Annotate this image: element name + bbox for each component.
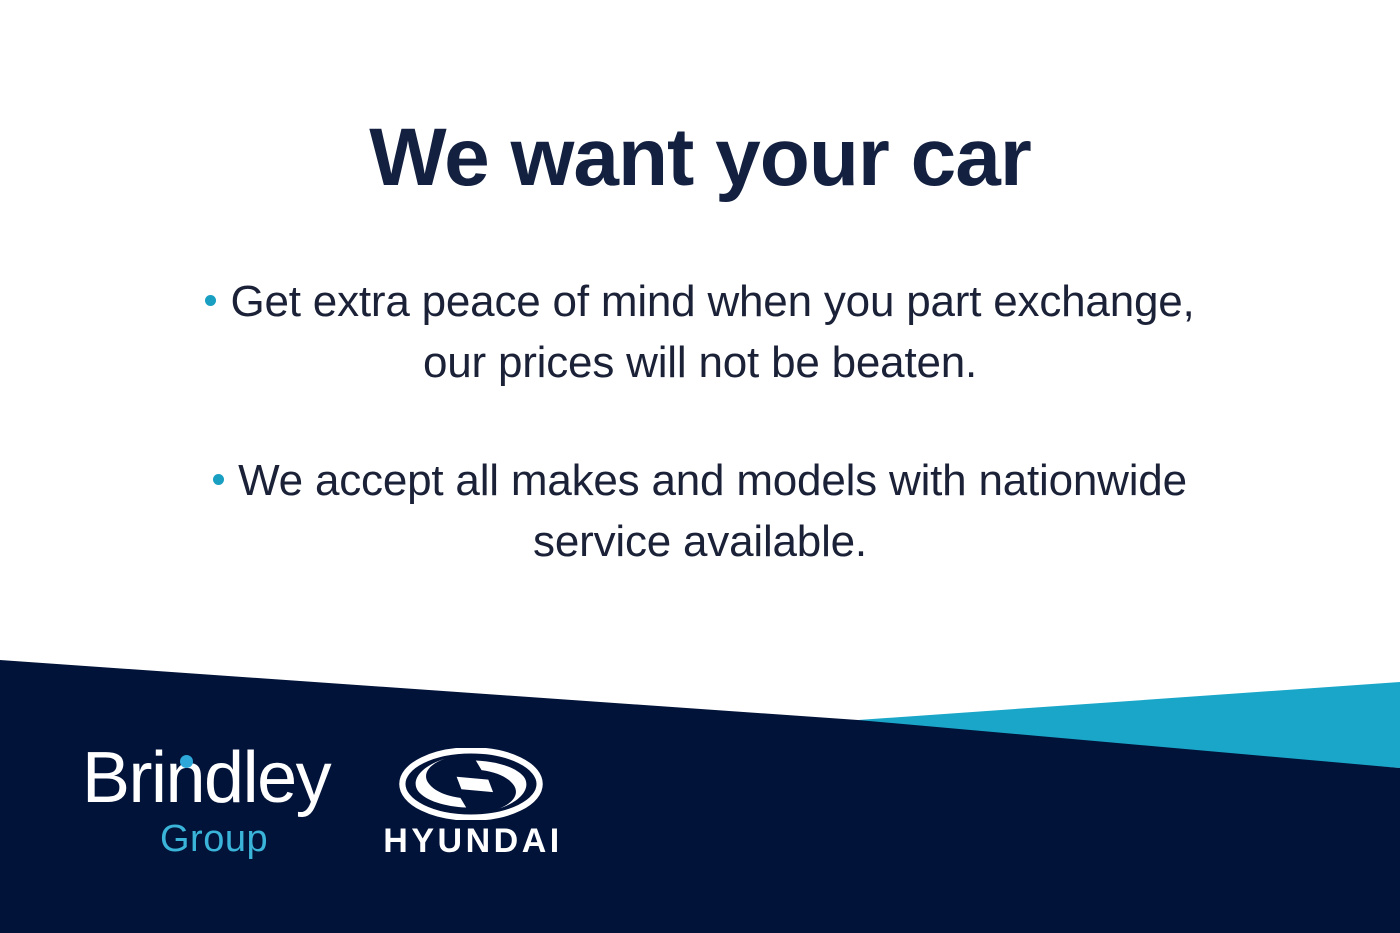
bullet-dot-icon xyxy=(205,295,216,306)
hyundai-logo: HYUNDAI xyxy=(368,748,578,868)
brindley-subtitle: Group xyxy=(160,820,268,858)
list-item: We accept all makes and models with nati… xyxy=(190,451,1210,572)
brindley-group-logo: Brindley Group xyxy=(82,742,342,872)
list-item-text: Get extra peace of mind when you part ex… xyxy=(230,277,1194,387)
footer-logos: Brindley Group HYUNDAI xyxy=(0,742,1400,892)
brindley-i-dot-icon xyxy=(180,755,193,768)
promo-poster: We want your car Get extra peace of mind… xyxy=(0,0,1400,933)
bullet-dot-icon xyxy=(213,474,224,485)
hyundai-wordmark: HYUNDAI xyxy=(368,824,578,858)
brindley-wordmark: Brindley xyxy=(82,742,330,814)
page-title: We want your car xyxy=(0,117,1400,199)
list-item: Get extra peace of mind when you part ex… xyxy=(190,272,1210,393)
list-item-text: We accept all makes and models with nati… xyxy=(238,456,1187,566)
bullet-list: Get extra peace of mind when you part ex… xyxy=(190,228,1210,617)
hyundai-h-emblem xyxy=(396,748,546,820)
